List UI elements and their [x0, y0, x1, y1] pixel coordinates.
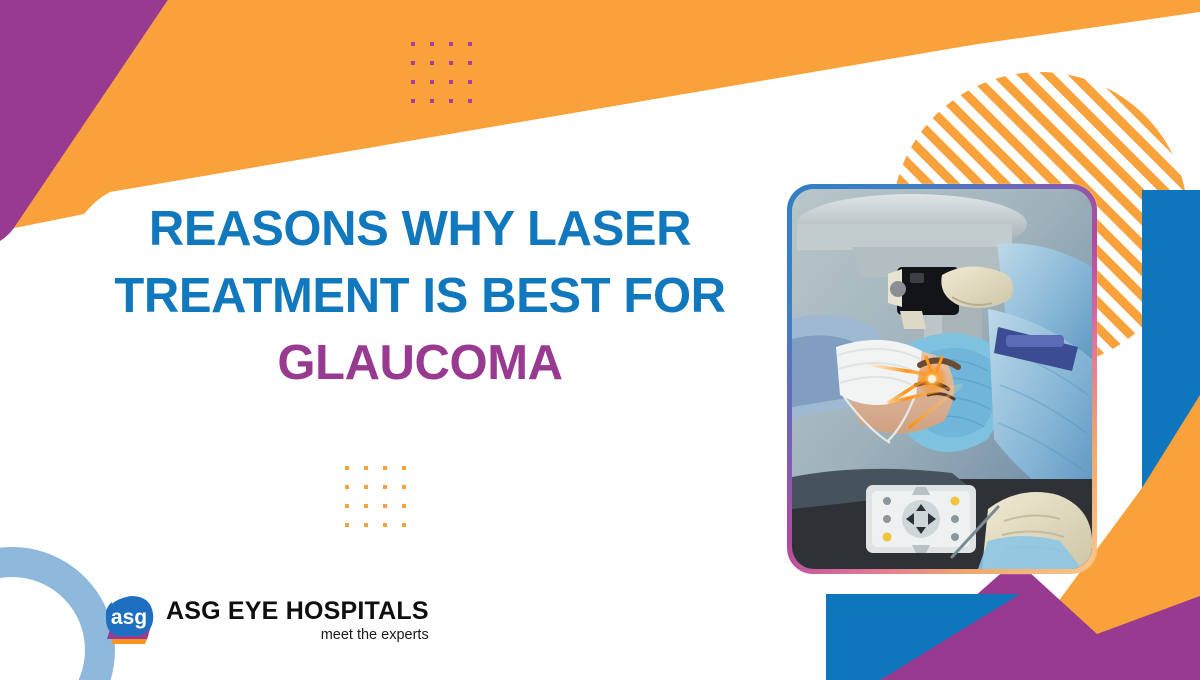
dot	[449, 61, 453, 65]
dot	[364, 466, 368, 470]
dot	[402, 504, 406, 508]
banner-canvas: REASONS WHY LASER TREATMENT IS BEST FOR …	[0, 0, 1200, 680]
asg-logo-tagline: meet the experts	[166, 626, 429, 644]
dot	[402, 485, 406, 489]
dot	[383, 504, 387, 508]
dot-grid-orange	[345, 466, 406, 527]
dot	[449, 80, 453, 84]
surgery-photo	[792, 189, 1092, 569]
dot	[411, 42, 415, 46]
asg-logo[interactable]: asg ASG EYE HOSPITALS meet the experts	[103, 594, 429, 648]
svg-text:asg: asg	[111, 606, 147, 629]
dot	[364, 485, 368, 489]
asg-logo-mark: asg	[103, 594, 159, 648]
dot-grid-purple	[411, 42, 472, 103]
dot	[345, 466, 349, 470]
dot	[383, 466, 387, 470]
photo-frame	[787, 184, 1097, 574]
dot	[345, 523, 349, 527]
asg-mark-icon: asg	[103, 594, 159, 648]
dot	[411, 80, 415, 84]
dot	[402, 466, 406, 470]
headline-line-1: REASONS WHY LASER	[90, 196, 750, 263]
asg-logo-text: ASG EYE HOSPITALS meet the experts	[166, 598, 429, 644]
dot	[468, 61, 472, 65]
dot	[383, 485, 387, 489]
surgery-photo-illustration	[792, 189, 1092, 569]
dot	[402, 523, 406, 527]
headline-line-2: TREATMENT IS BEST FOR	[90, 263, 750, 330]
dot	[449, 99, 453, 103]
dot	[430, 61, 434, 65]
dot	[430, 42, 434, 46]
dot	[430, 80, 434, 84]
dot	[383, 523, 387, 527]
headline-line-3: GLAUCOMA	[90, 330, 750, 397]
headline-block: REASONS WHY LASER TREATMENT IS BEST FOR …	[90, 196, 750, 397]
dot	[411, 99, 415, 103]
asg-logo-name: ASG EYE HOSPITALS	[166, 598, 429, 625]
dot	[411, 61, 415, 65]
dot	[468, 99, 472, 103]
dot	[345, 485, 349, 489]
dot	[364, 504, 368, 508]
dot	[345, 504, 349, 508]
dot	[430, 99, 434, 103]
dot	[468, 42, 472, 46]
dot	[449, 42, 453, 46]
dot	[364, 523, 368, 527]
dot	[468, 80, 472, 84]
